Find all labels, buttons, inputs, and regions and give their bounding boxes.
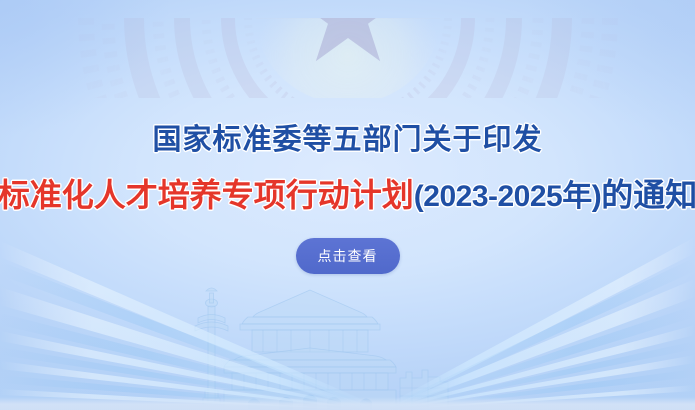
- headline-line-1: 国家标准委等五部门关于印发: [152, 126, 542, 155]
- headline-plan-name: 标准化人才培养专项行动计划: [0, 177, 414, 213]
- banner-content: 国家标准委等五部门关于印发 标准化人才培养专项行动计划(2023-2025年)的…: [0, 0, 695, 410]
- view-detail-button[interactable]: 点击查看: [296, 238, 400, 274]
- headline-suffix: 的通知: [601, 177, 695, 213]
- headline-line-2: 标准化人才培养专项行动计划(2023-2025年)的通知: [0, 179, 695, 212]
- headline-year-range: (2023-2025年): [414, 180, 601, 213]
- policy-banner: 国家标准委等五部门关于印发 标准化人才培养专项行动计划(2023-2025年)的…: [0, 0, 695, 410]
